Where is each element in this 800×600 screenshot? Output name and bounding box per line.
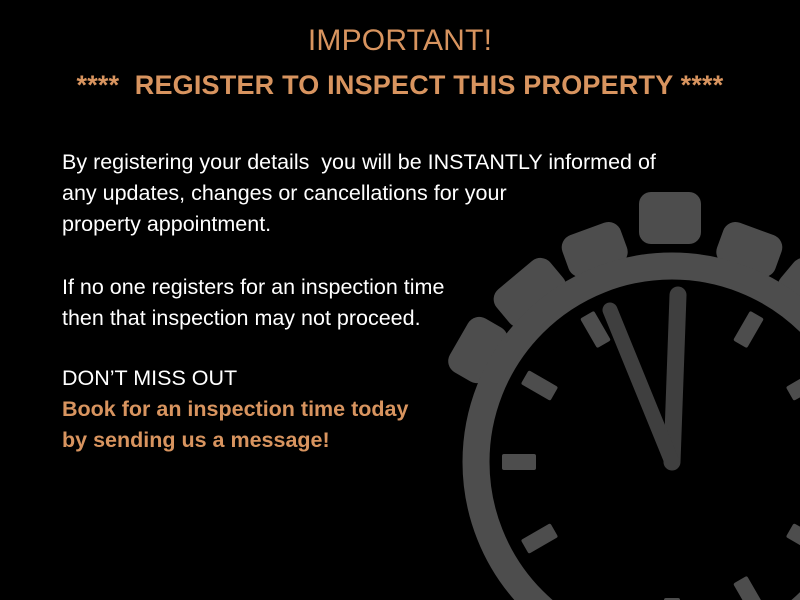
paragraph-line: property appointment.: [62, 209, 722, 240]
cta-book-inspection: Book for an inspection time today: [62, 394, 722, 425]
paragraph-line: any updates, changes or cancellations fo…: [62, 178, 722, 209]
paragraph-line: By registering your details you will be …: [62, 147, 722, 178]
heading-block: IMPORTANT! **** REGISTER TO INSPECT THIS…: [0, 22, 800, 104]
cta-send-message: by sending us a message!: [62, 425, 722, 456]
paragraph-line: then that inspection may not proceed.: [62, 303, 722, 334]
cta-dont-miss-out: DON’T MISS OUT: [62, 363, 722, 394]
paragraph-line: If no one registers for an inspection ti…: [62, 272, 722, 303]
call-to-action-block: DON’T MISS OUT Book for an inspection ti…: [62, 363, 722, 456]
paragraph-no-registration: If no one registers for an inspection ti…: [62, 272, 722, 334]
page-title: IMPORTANT!: [0, 22, 800, 60]
paragraph-registering: By registering your details you will be …: [62, 147, 722, 240]
page-subtitle: **** REGISTER TO INSPECT THIS PROPERTY *…: [0, 66, 800, 104]
slide-canvas: IMPORTANT! **** REGISTER TO INSPECT THIS…: [0, 0, 800, 600]
